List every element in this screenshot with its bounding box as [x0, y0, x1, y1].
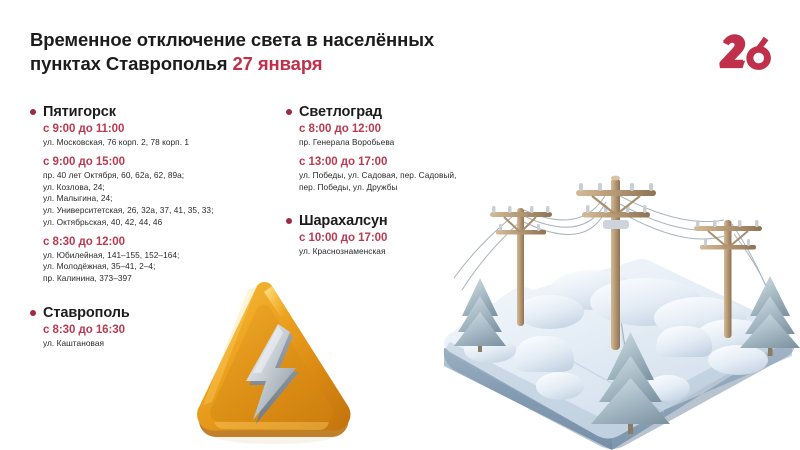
slot-time: с 8:30 до 12:00: [43, 236, 280, 248]
bullet-icon: [286, 109, 292, 115]
electric-hazard-sign-illustration: [186, 280, 358, 448]
page-title-date: 27 января: [232, 53, 322, 74]
city-heading: Светлоград: [286, 104, 516, 120]
slot-address: ул. Университетская, 26, 32а, 37, 41, 35…: [43, 205, 280, 217]
city-block-pyatigorsk: Пятигорск с 9:00 до 11:00 ул. Московская…: [30, 104, 280, 285]
page-title: Временное отключение света в населённых …: [30, 28, 550, 77]
city-name: Ставрополь: [43, 305, 130, 321]
outage-slot: с 9:00 до 15:00 пр. 40 лет Октября, 60, …: [43, 156, 280, 229]
slot-address: пр. 40 лет Октября, 60, 62а, 62, 89а;: [43, 170, 280, 182]
outage-slot: с 8:30 до 12:00 ул. Юбилейная, 141–155, …: [43, 236, 280, 285]
page-title-line-1: Временное отключение света в населённых: [30, 29, 434, 50]
page-header: Временное отключение света в населённых …: [30, 28, 550, 77]
city-name: Шарахалсун: [299, 213, 388, 229]
city-name: Светлоград: [299, 104, 382, 120]
power-line-landscape-icon: [432, 150, 800, 450]
warning-triangle-icon: [186, 280, 358, 448]
outage-slot: с 8:00 до 12:00 пр. Генерала Воробьева: [299, 123, 516, 149]
logo-26-icon: [716, 30, 778, 76]
slot-address: ул. Козлова, 24;: [43, 182, 280, 194]
snowy-powerline-landscape-illustration: [432, 150, 800, 450]
bullet-icon: [286, 218, 292, 224]
city-heading: Пятигорск: [30, 104, 280, 120]
outage-slot: с 9:00 до 11:00 ул. Московская, 76 корп.…: [43, 123, 280, 149]
slot-address: ул. Московская, 76 корп. 2, 78 корп. 1: [43, 137, 280, 149]
slot-time: с 9:00 до 15:00: [43, 156, 280, 168]
slot-time: с 9:00 до 11:00: [43, 123, 280, 135]
city-name: Пятигорск: [43, 104, 116, 120]
poster-root: Временное отключение света в населённых …: [0, 0, 800, 450]
slot-address: ул. Молодёжная, 35–41, 2–4;: [43, 261, 280, 273]
slot-address: пр. Генерала Воробьева: [299, 137, 516, 149]
bullet-icon: [30, 109, 36, 115]
slot-address: ул. Малыгина, 24;: [43, 193, 280, 205]
bullet-icon: [30, 310, 36, 316]
page-title-line-2: пунктах Ставрополья: [30, 53, 232, 74]
slot-time: с 8:00 до 12:00: [299, 123, 516, 135]
slot-address: ул. Юбилейная, 141–155, 152–164;: [43, 250, 280, 262]
slot-address: ул. Октябрьская, 40, 42, 44, 46: [43, 217, 280, 229]
brand-logo-26: [716, 30, 778, 76]
